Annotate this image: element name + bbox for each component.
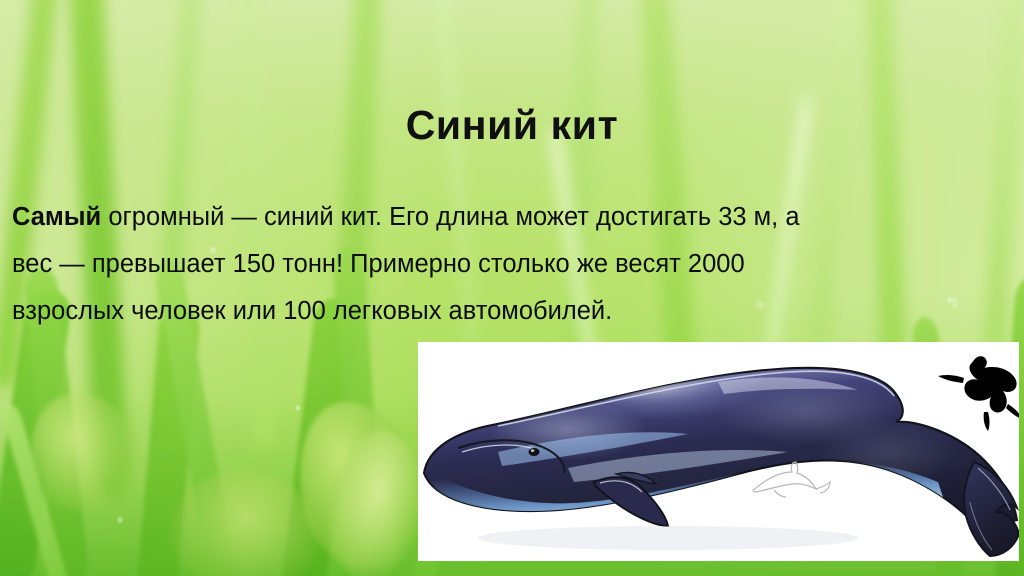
page-title: Синий кит <box>0 103 1024 149</box>
body-paragraph: Самый огромный — синий кит. Его длина мо… <box>12 194 822 335</box>
scuba-diver-silhouette <box>938 356 1019 431</box>
body-rest-text: огромный — синий кит. Его длина может до… <box>12 203 800 325</box>
slide: Синий кит Самый огромный — синий кит. Ег… <box>0 0 1024 576</box>
blue-whale-illustration <box>418 342 1019 561</box>
whale-picture-panel <box>418 342 1019 561</box>
body-lead-word: Самый <box>12 203 101 231</box>
